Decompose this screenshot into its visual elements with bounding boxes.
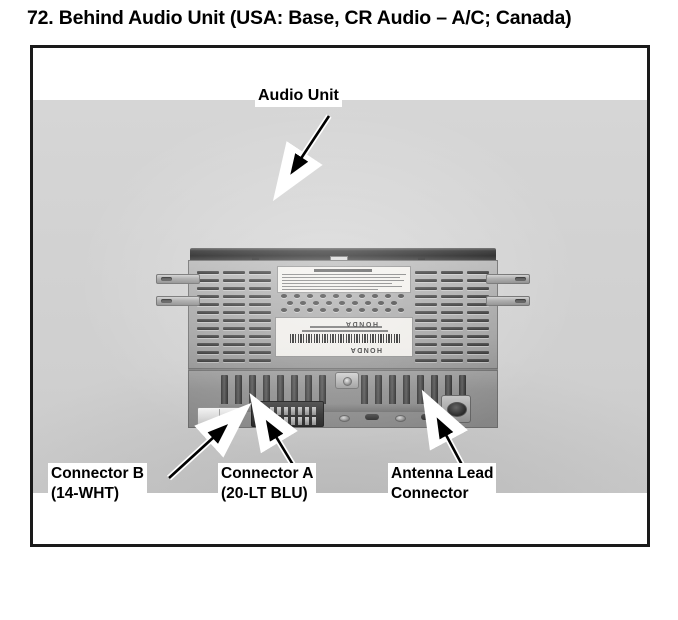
photograph: HONDA HONDA [33,100,647,493]
callout-connector-a: Connector A (20-LT BLU) [218,463,316,505]
perforation-field [281,294,405,314]
callout-connector-a-line1: Connector A [221,465,313,482]
callout-connector-b-line2: (14-WHT) [51,484,144,504]
connector-b[interactable] [197,407,241,426]
antenna-lead-connector[interactable] [441,395,471,423]
callout-audio-unit: Audio Unit [255,85,342,107]
vent-slots-left [197,267,273,367]
mounting-bracket-left-upper [156,274,200,284]
audio-unit-device: HONDA HONDA [188,248,498,428]
mounting-bracket-left-lower [156,296,200,306]
vent-slots-right [415,267,491,367]
mounting-bracket-right-upper [486,274,530,284]
mounting-bracket-right-lower [486,296,530,306]
barcode-label: HONDA HONDA [275,317,413,357]
callout-antenna-line2: Connector [391,484,493,504]
callout-connector-b-line1: Connector B [51,465,144,482]
callout-connector-a-line2: (20-LT BLU) [221,484,313,504]
callout-audio-unit-line1: Audio Unit [258,87,339,104]
callout-connector-b: Connector B (14-WHT) [48,463,147,505]
callout-antenna-lead-connector: Antenna Lead Connector [388,463,496,505]
antenna-socket [447,402,467,417]
connector-a[interactable] [251,401,324,427]
page-title: 72. Behind Audio Unit (USA: Base, CR Aud… [27,7,571,30]
center-mount-boss [335,372,359,389]
barcode-brand-text: HONDA [349,346,382,353]
barcode-bars [288,334,400,343]
unit-upper-chassis: HONDA HONDA [188,260,498,372]
callout-antenna-line1: Antenna Lead [391,465,493,482]
unit-lower-chassis [188,370,498,428]
barcode-footer-text: HONDA [344,320,378,327]
spec-label [277,266,411,293]
